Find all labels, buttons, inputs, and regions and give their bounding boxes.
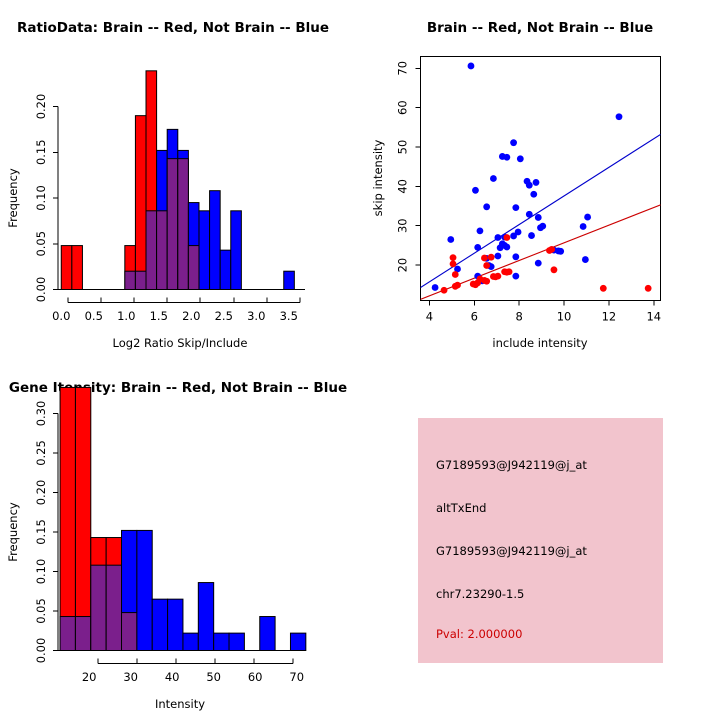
scatter-point xyxy=(483,262,490,269)
gene-x-tick-label: 60 xyxy=(248,670,263,684)
scatter-y-axis: 203040506070 xyxy=(396,61,421,272)
scatter-point xyxy=(582,256,589,263)
scatter-point xyxy=(600,285,607,292)
scatter-point xyxy=(530,191,537,198)
histogram-bar-overlap xyxy=(91,565,106,650)
histogram-bar xyxy=(135,116,146,290)
histogram-bar xyxy=(61,246,72,290)
histogram-bar-overlap xyxy=(178,159,189,290)
scatter-point xyxy=(488,254,495,261)
ratio-y-tick-3: 0.15 xyxy=(34,139,48,165)
histogram-bar-overlap xyxy=(146,211,157,290)
gene-x-tick-label: 70 xyxy=(289,670,304,684)
scatter-point xyxy=(483,278,490,285)
gene-x-tick-label: 30 xyxy=(123,670,138,684)
gene-y-tick-0: 0.00 xyxy=(34,638,48,664)
scatter-point xyxy=(492,273,499,280)
scatter-x-tick-label: 14 xyxy=(646,310,661,324)
info-line-probe-id-2: G7189593@J942119@j_at xyxy=(436,544,587,558)
scatter-point xyxy=(539,223,546,230)
scatter-point xyxy=(526,182,533,189)
ratio-y-tick-0: 0.00 xyxy=(34,277,48,303)
gene-y-tick-2: 0.10 xyxy=(34,559,48,585)
ratio-y-axis-label: Frequency xyxy=(6,168,20,228)
histogram-bar xyxy=(72,246,83,290)
panel-annotation-info: G7189593@J942119@j_at altTxEnd G7189593@… xyxy=(360,360,720,720)
scatter-y-axis-label: skip intensity xyxy=(371,139,385,216)
gene-histogram-svg: Gene Itensity: Brain -- Red, Not Brain -… xyxy=(0,360,360,720)
gene-y-tick-6: 0.30 xyxy=(34,401,48,427)
scatter-point xyxy=(526,211,533,218)
histogram-bar-overlap xyxy=(60,617,75,651)
ratio-y-tick-2: 0.10 xyxy=(34,185,48,211)
histogram-bar xyxy=(214,633,229,650)
ratio-x-tick-label: 0.0 xyxy=(52,309,70,323)
scatter-point xyxy=(512,253,519,260)
histogram-bar xyxy=(220,250,231,289)
figure-page: RatioData: Brain -- Red, Not Brain -- Bl… xyxy=(0,0,720,720)
scatter-chart-title: Brain -- Red, Not Brain -- Blue xyxy=(427,20,653,36)
gene-x-tick-labels: 203040506070 xyxy=(82,670,304,684)
histogram-bar-overlap xyxy=(106,565,121,650)
panel-intensity-scatter: Brain -- Red, Not Brain -- Blue 20304050… xyxy=(360,0,720,360)
histogram-bar-overlap xyxy=(75,617,90,651)
scatter-point xyxy=(497,244,504,251)
panel-ratio-histogram: RatioData: Brain -- Red, Not Brain -- Bl… xyxy=(0,0,360,360)
ratio-x-tick-label: 3.5 xyxy=(280,309,298,323)
scatter-y-tick-label: 20 xyxy=(396,258,410,273)
scatter-point xyxy=(616,113,623,120)
scatter-point xyxy=(472,187,479,194)
ratio-x-axis-label: Log2 Ratio Skip/Include xyxy=(113,336,248,350)
gene-x-axis-label: Intensity xyxy=(155,697,205,711)
scatter-x-tick-label: 8 xyxy=(516,310,523,324)
histogram-bar-overlap xyxy=(122,613,137,651)
scatter-point xyxy=(512,204,519,211)
scatter-point xyxy=(452,271,459,278)
info-line-locus: chr7.23290-1.5 xyxy=(436,587,524,601)
histogram-bar xyxy=(152,599,167,650)
ratio-x-tick-label: 1.0 xyxy=(117,309,135,323)
ratio-y-axis xyxy=(53,107,58,290)
panel-gene-intensity-histogram: Gene Itensity: Brain -- Red, Not Brain -… xyxy=(0,360,360,720)
histogram-bar xyxy=(210,191,221,290)
scatter-point xyxy=(533,179,540,186)
scatter-point xyxy=(510,139,517,146)
scatter-point xyxy=(472,281,479,288)
histogram-bar-overlap xyxy=(125,271,136,289)
scatter-x-tick-label: 6 xyxy=(471,310,478,324)
ratio-x-tick-label: 0.5 xyxy=(85,309,103,323)
scatter-point xyxy=(481,255,488,262)
scatter-point xyxy=(441,287,448,294)
histogram-bar xyxy=(231,211,242,290)
ratio-x-tick-label: 1.5 xyxy=(150,309,168,323)
info-line-pval: Pval: 2.000000 xyxy=(436,627,522,641)
scatter-point xyxy=(551,266,558,273)
scatter-x-axis-label: include intensity xyxy=(492,336,587,350)
info-line-probe-id: G7189593@J942119@j_at xyxy=(436,458,587,472)
histogram-bar xyxy=(75,387,90,650)
info-box: G7189593@J942119@j_at altTxEnd G7189593@… xyxy=(418,418,663,663)
ratio-y-tick-4: 0.20 xyxy=(34,94,48,120)
scatter-point xyxy=(557,248,564,255)
scatter-x-axis: 468101214 xyxy=(426,301,661,324)
scatter-y-tick-label: 50 xyxy=(396,140,410,155)
ratio-x-tick-label: 2.0 xyxy=(182,309,200,323)
histogram-bar-overlap xyxy=(135,271,146,289)
scatter-y-tick-label: 60 xyxy=(396,100,410,115)
gene-y-tick-4: 0.20 xyxy=(34,480,48,506)
scatter-svg: Brain -- Red, Not Brain -- Blue 20304050… xyxy=(360,0,720,360)
scatter-point xyxy=(468,63,475,70)
histogram-bar-overlap xyxy=(188,246,199,290)
histogram-bar xyxy=(183,633,198,650)
histogram-bar xyxy=(198,583,213,651)
ratio-x-tick-labels: 0.00.51.01.52.02.53.03.5 xyxy=(52,309,298,323)
scatter-point xyxy=(450,261,457,268)
scatter-x-tick-label: 12 xyxy=(602,310,617,324)
histogram-bar-overlap xyxy=(167,159,178,290)
scatter-point xyxy=(477,227,484,234)
scatter-point xyxy=(515,229,522,236)
scatter-x-tick-label: 10 xyxy=(557,310,572,324)
scatter-y-tick-label: 70 xyxy=(396,61,410,76)
gene-y-tick-3: 0.15 xyxy=(34,519,48,545)
scatter-point xyxy=(584,214,591,221)
histogram-bar xyxy=(60,387,75,650)
scatter-point xyxy=(645,285,652,292)
gene-y-tick-1: 0.05 xyxy=(34,598,48,624)
info-line-event-type: altTxEnd xyxy=(436,501,486,515)
gene-y-axis-label: Frequency xyxy=(6,502,20,562)
scatter-point xyxy=(535,260,542,267)
gene-x-tick-label: 20 xyxy=(82,670,97,684)
scatter-point xyxy=(506,268,513,275)
scatter-y-tick-label: 30 xyxy=(396,218,410,233)
histogram-bar xyxy=(284,271,295,289)
ratio-histogram-svg: RatioData: Brain -- Red, Not Brain -- Bl… xyxy=(0,0,360,360)
scatter-point xyxy=(546,247,553,254)
scatter-point xyxy=(512,273,519,280)
scatter-x-tick-label: 4 xyxy=(426,310,433,324)
histogram-bar-overlap xyxy=(157,211,168,290)
scatter-point xyxy=(580,223,587,230)
scatter-point xyxy=(432,284,439,291)
ratio-bars-group xyxy=(61,71,294,290)
scatter-point xyxy=(450,254,457,261)
scatter-y-tick-label: 40 xyxy=(396,179,410,194)
scatter-point xyxy=(494,253,501,260)
histogram-bar xyxy=(290,633,305,650)
scatter-point xyxy=(494,234,501,241)
histogram-bar xyxy=(199,211,210,290)
gene-y-axis xyxy=(53,414,58,651)
gene-bars-group xyxy=(60,387,306,650)
histogram-bar xyxy=(260,617,275,651)
scatter-point xyxy=(483,203,490,210)
ratio-x-tick-label: 2.5 xyxy=(215,309,233,323)
gene-x-axis xyxy=(98,659,293,664)
gene-y-tick-5: 0.25 xyxy=(34,440,48,466)
ratio-chart-title: RatioData: Brain -- Red, Not Brain -- Bl… xyxy=(17,20,329,36)
ratio-x-axis xyxy=(68,298,300,303)
gene-x-tick-label: 40 xyxy=(165,670,180,684)
scatter-point xyxy=(535,214,542,221)
scatter-point xyxy=(447,236,454,243)
histogram-bar xyxy=(229,633,244,650)
scatter-point xyxy=(474,244,481,251)
ratio-x-tick-label: 3.0 xyxy=(247,309,265,323)
histogram-bar xyxy=(137,530,152,650)
histogram-bar xyxy=(168,599,183,650)
scatter-point xyxy=(503,154,510,161)
scatter-point xyxy=(528,232,535,239)
scatter-point xyxy=(517,155,524,162)
scatter-point xyxy=(503,244,510,251)
gene-x-tick-label: 50 xyxy=(206,670,221,684)
scatter-point xyxy=(452,283,459,290)
scatter-point xyxy=(503,234,510,241)
ratio-y-tick-1: 0.05 xyxy=(34,231,48,257)
scatter-point xyxy=(490,175,497,182)
